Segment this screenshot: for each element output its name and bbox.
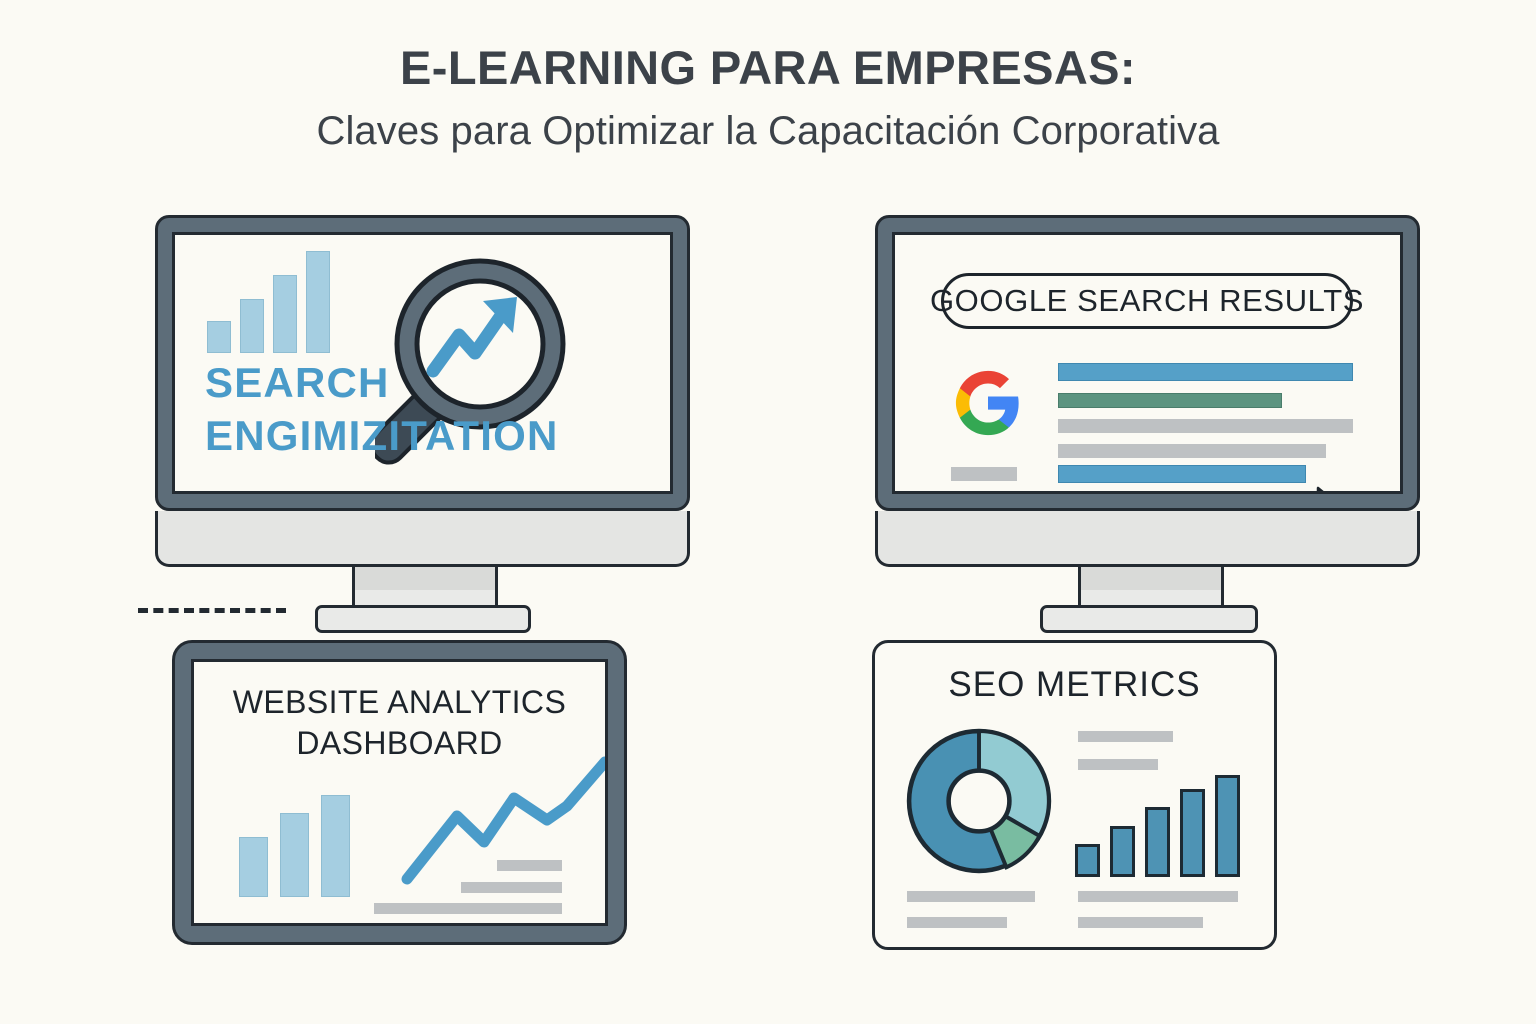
bar-2 [1110,826,1135,877]
analytics-line-chart [399,754,608,899]
seo-legend-line-1 [1078,731,1173,742]
bar-1 [239,837,268,897]
bar-3 [321,795,350,897]
seo-footer-line-right-1 [1078,891,1238,902]
title-subtitle: Claves para Optimizar la Capacitación Co… [0,107,1536,155]
analytics-tablet[interactable]: WEBSITE ANALYTICS DASHBOARD [172,640,627,945]
analytics-bar-chart [239,797,350,897]
bar-3 [1145,807,1170,877]
seo-monitor-bezel: SEARCH ENGIMIZITATION [155,215,690,511]
seo-bar-chart [207,253,330,353]
bar-3 [273,275,297,353]
analytics-stat-line-3 [374,903,562,914]
seo-heading-line2: ENGIMIZITATION [205,410,559,462]
seo-metric-bar-chart [1075,781,1240,877]
bar-4 [1180,789,1205,877]
google-monitor-foot [1040,605,1258,633]
result-1-snippet-bar-1 [1058,419,1353,433]
seo-monitor-screen: SEARCH ENGIMIZITATION [172,232,673,494]
page-title: E-LEARNING PARA EMPRESAS: Claves para Op… [0,42,1536,155]
seo-heading-line1: SEARCH [205,357,390,409]
google-results-monitor[interactable]: GOOGLE SEARCH RESULTS [875,215,1420,567]
seo-footer-line-right-2 [1078,917,1203,928]
seo-footer-line-left-2 [907,917,1007,928]
google-monitor-chin [875,511,1420,567]
bar-5 [1215,775,1240,877]
google-g-icon [953,367,1023,439]
bar-1 [1075,844,1100,877]
seo-metrics-title: SEO METRICS [875,665,1274,705]
sidebar-stub-2 [951,493,1017,494]
title-main: E-LEARNING PARA EMPRESAS: [0,42,1536,95]
dashed-connector [138,608,286,613]
bar-1 [207,321,231,353]
seo-legend-line-2 [1078,759,1158,770]
seo-metrics-card[interactable]: SEO METRICS [872,640,1277,950]
bar-2 [280,813,309,897]
analytics-stat-line-1 [497,860,562,871]
search-pill[interactable]: GOOGLE SEARCH RESULTS [941,273,1353,329]
seo-donut-chart [903,725,1055,877]
google-monitor-screen: GOOGLE SEARCH RESULTS [892,232,1403,494]
seo-monitor-foot [315,605,531,633]
result-1-url-bar [1058,393,1282,408]
analytics-stat-line-2 [461,882,562,893]
bar-4 [306,251,330,353]
analytics-title: WEBSITE ANALYTICS DASHBOARD [194,682,605,764]
bar-2 [240,299,264,353]
seo-footer-line-left-1 [907,891,1035,902]
result-1-title-bar[interactable] [1058,363,1353,381]
analytics-tablet-screen: WEBSITE ANALYTICS DASHBOARD [191,659,608,926]
poster-canvas: E-LEARNING PARA EMPRESAS: Claves para Op… [0,0,1536,1024]
google-monitor-bezel: GOOGLE SEARCH RESULTS [875,215,1420,511]
sidebar-stub-1 [951,467,1017,481]
seo-monitor-chin [155,511,690,567]
mouse-pointer-icon [1313,485,1363,494]
analytics-title-line1: WEBSITE ANALYTICS [194,682,605,723]
result-2-title-bar[interactable] [1058,465,1306,483]
seo-monitor[interactable]: SEARCH ENGIMIZITATION [155,215,690,567]
result-1-snippet-bar-2 [1058,444,1326,458]
